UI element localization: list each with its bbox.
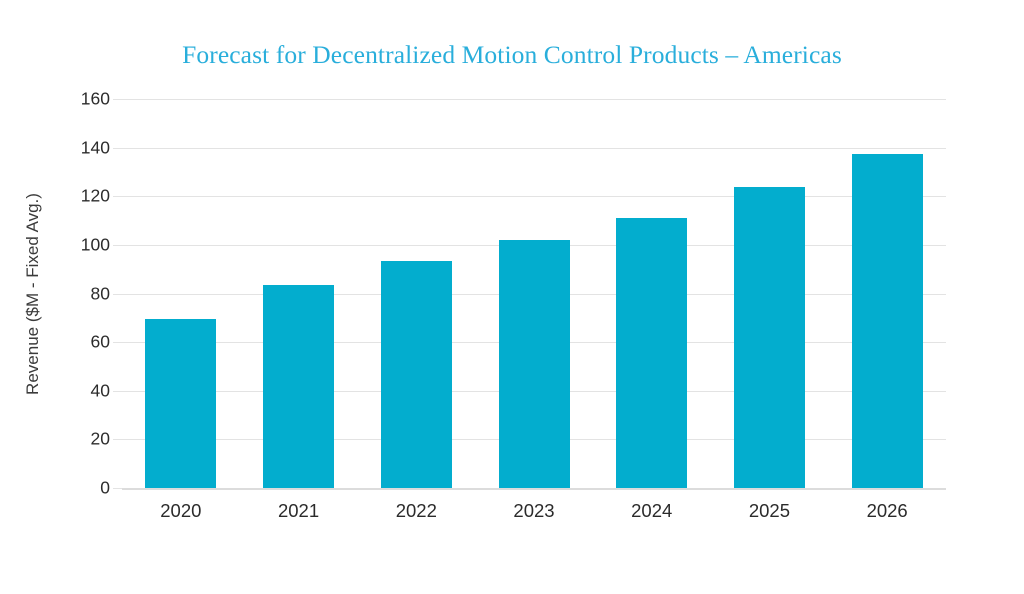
y-axis-tick-label: 120 [46, 186, 110, 207]
x-axis-tick-labels: 2020202120222023202420252026 [122, 500, 946, 528]
y-axis-tick-label: 40 [46, 380, 110, 401]
y-axis-tick-mark [113, 488, 122, 489]
bar [499, 240, 570, 488]
y-axis-tick-label: 100 [46, 234, 110, 255]
y-axis-tick-mark [113, 99, 122, 100]
bar [381, 261, 452, 488]
y-axis-tick-mark [113, 245, 122, 246]
gridline [122, 488, 946, 490]
bar [145, 319, 216, 488]
bar [263, 285, 334, 488]
y-axis-tick-mark [113, 294, 122, 295]
y-axis-tick-mark [113, 148, 122, 149]
y-axis-tick-label: 140 [46, 137, 110, 158]
y-axis-tick-labels: 020406080100120140160 [46, 99, 110, 488]
x-axis-tick-label: 2021 [278, 500, 319, 522]
y-axis-tick-mark [113, 439, 122, 440]
y-axis-tick-mark [113, 342, 122, 343]
gridline [122, 196, 946, 197]
gridline [122, 148, 946, 149]
chart-title: Forecast for Decentralized Motion Contro… [0, 40, 1024, 70]
y-axis-tick-mark [113, 391, 122, 392]
y-axis-tick-label: 160 [46, 89, 110, 110]
bar [616, 218, 687, 488]
x-axis-tick-label: 2022 [396, 500, 437, 522]
bar [852, 154, 923, 488]
gridline [122, 99, 946, 100]
y-axis-tick-label: 80 [46, 283, 110, 304]
y-axis-tick-label: 20 [46, 429, 110, 450]
plot-area [122, 99, 946, 488]
bar [734, 187, 805, 488]
chart-figure: Forecast for Decentralized Motion Contro… [0, 0, 1024, 594]
y-axis-title: Revenue ($M - Fixed Avg.) [22, 99, 44, 488]
x-axis-tick-label: 2024 [631, 500, 672, 522]
y-axis-tick-label: 60 [46, 332, 110, 353]
y-axis-tick-mark [113, 196, 122, 197]
x-axis-tick-label: 2020 [160, 500, 201, 522]
x-axis-tick-label: 2026 [867, 500, 908, 522]
x-axis-tick-label: 2025 [749, 500, 790, 522]
x-axis-tick-label: 2023 [513, 500, 554, 522]
y-axis-title-text: Revenue ($M - Fixed Avg.) [23, 193, 43, 395]
y-axis-tick-label: 0 [46, 478, 110, 499]
y-axis-tick-marks [113, 99, 122, 488]
